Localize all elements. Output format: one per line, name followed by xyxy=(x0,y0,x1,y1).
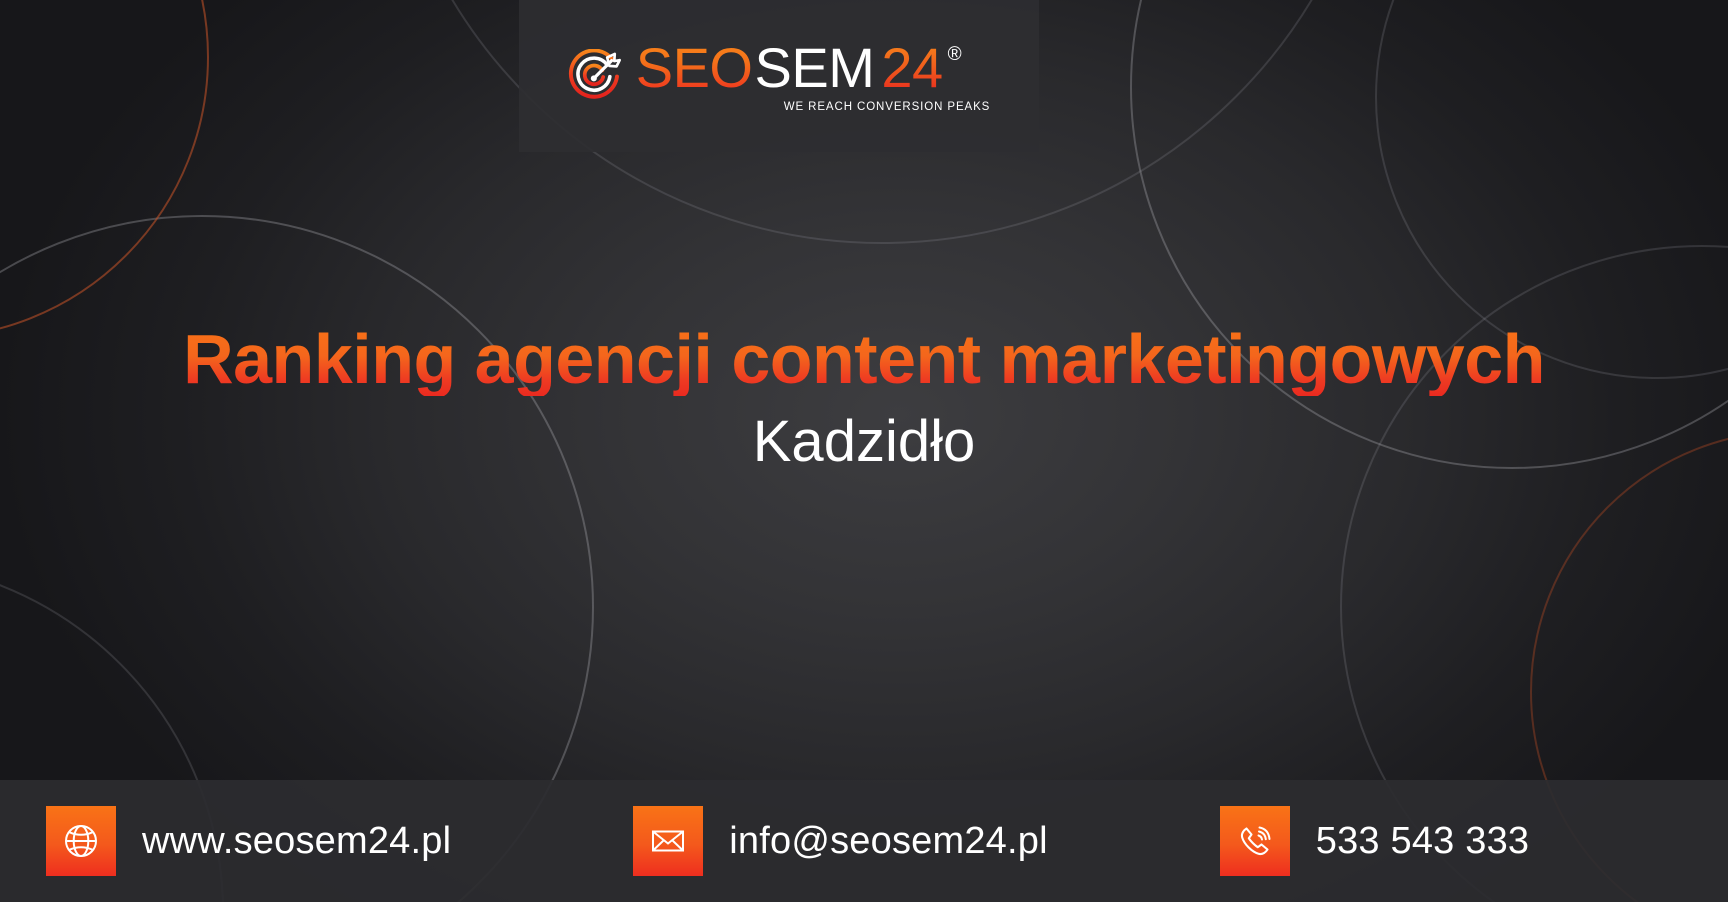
website-label: www.seosem24.pl xyxy=(142,820,451,863)
logo-wordmark: SEO SEM 24 ® WE REACH CONVERSION PEAKS xyxy=(636,40,991,113)
contact-email[interactable]: info@seosem24.pl xyxy=(633,806,1048,876)
logo-band: SEO SEM 24 ® WE REACH CONVERSION PEAKS xyxy=(519,0,1039,152)
contact-website[interactable]: www.seosem24.pl xyxy=(46,806,451,876)
slide-canvas: SEO SEM 24 ® WE REACH CONVERSION PEAKS R… xyxy=(0,0,1728,902)
logo-word-24: 24 xyxy=(881,40,942,96)
page-title: Ranking agencji content marketingowych xyxy=(60,322,1668,396)
target-arrow-icon xyxy=(568,49,625,106)
registered-mark-icon: ® xyxy=(948,45,962,64)
decorative-ring xyxy=(0,0,209,339)
phone-icon xyxy=(1220,806,1290,876)
brand-logo[interactable]: SEO SEM 24 ® WE REACH CONVERSION PEAKS xyxy=(568,40,991,113)
logo-word-seo: SEO xyxy=(636,40,753,96)
hero-text-block: Ranking agencji content marketingowych K… xyxy=(0,322,1728,474)
page-subtitle: Kadzidło xyxy=(60,410,1668,474)
logo-word-sem: SEM xyxy=(754,40,874,96)
globe-icon xyxy=(46,806,116,876)
envelope-icon xyxy=(633,806,703,876)
contact-phone[interactable]: 533 543 333 xyxy=(1220,806,1530,876)
contact-footer-bar: www.seosem24.pl info@seosem24.pl xyxy=(0,780,1728,902)
logo-tagline: WE REACH CONVERSION PEAKS xyxy=(784,101,991,113)
phone-label: 533 543 333 xyxy=(1316,820,1530,863)
email-label: info@seosem24.pl xyxy=(729,820,1048,863)
